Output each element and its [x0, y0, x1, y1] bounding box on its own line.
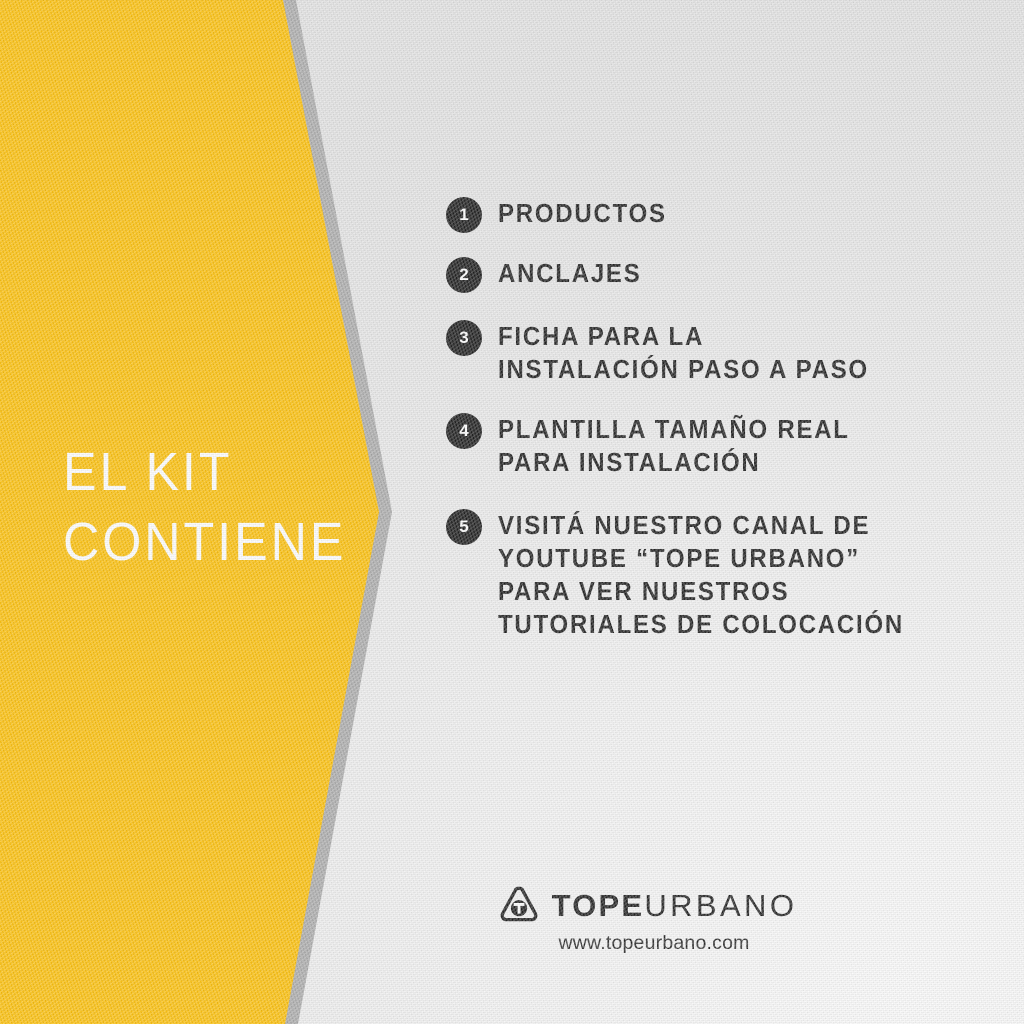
list-item: 2 ANCLAJES — [446, 256, 986, 293]
list-item-label: PRODUCTOS — [498, 196, 667, 231]
list-item: 4 PLANTILLA TAMAÑO REAL PARA INSTALACIÓN — [446, 412, 986, 480]
list-item: 5 VISITÁ NUESTRO CANAL DE YOUTUBE “TOPE … — [446, 508, 986, 642]
list-item: 3 FICHA PARA LA INSTALACIÓN PASO A PASO — [446, 319, 986, 387]
list-item-number-badge: 3 — [446, 320, 482, 356]
list-item-label: PLANTILLA TAMAÑO REAL PARA INSTALACIÓN — [498, 412, 850, 480]
list-item-label: ANCLAJES — [498, 256, 641, 291]
footer-branding: TOPE URBANO www.topeurbano.com — [0, 884, 1024, 955]
poster-canvas: EL KIT CONTIENE 1 PRODUCTOS 2 ANCLAJES 3… — [0, 0, 1024, 1024]
list-item-number-badge: 2 — [446, 257, 482, 293]
list-item: 1 PRODUCTOS — [446, 196, 986, 233]
brand-name-light: URBANO — [644, 888, 797, 924]
list-item-number-badge: 4 — [446, 413, 482, 449]
list-item-label: VISITÁ NUESTRO CANAL DE YOUTUBE “TOPE UR… — [498, 508, 904, 642]
tope-urbano-triangle-logo-icon — [497, 884, 541, 928]
list-item-label: FICHA PARA LA INSTALACIÓN PASO A PASO — [498, 319, 869, 387]
brand-wordmark: TOPE URBANO — [552, 888, 798, 924]
website-url: www.topeurbano.com — [558, 932, 749, 955]
page-title: EL KIT CONTIENE — [63, 437, 342, 577]
list-item-number-badge: 5 — [446, 509, 482, 545]
kit-contents-list: 1 PRODUCTOS 2 ANCLAJES 3 FICHA PARA LA I… — [446, 196, 986, 642]
logo-lockup: TOPE URBANO — [497, 884, 798, 928]
brand-name-bold: TOPE — [552, 888, 645, 924]
list-item-number-badge: 1 — [446, 197, 482, 233]
